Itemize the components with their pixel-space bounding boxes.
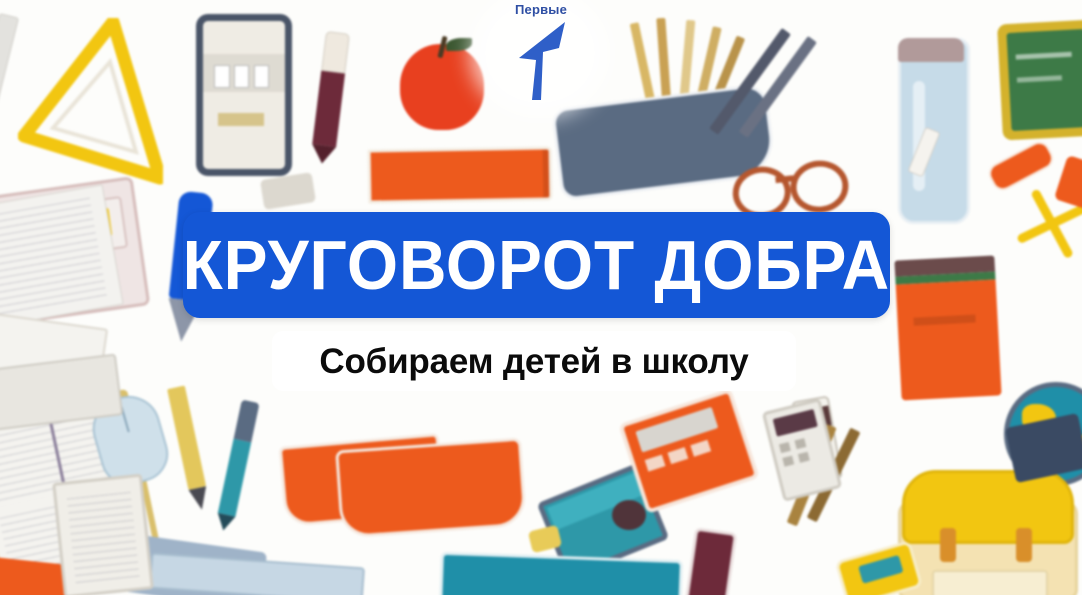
pervye-logo: Первые bbox=[495, 0, 587, 108]
ruler-strip-icon bbox=[0, 13, 19, 109]
marker-set-icon bbox=[260, 172, 316, 210]
orange-pencil-case-large-icon bbox=[335, 438, 527, 539]
eyeglasses-icon bbox=[730, 152, 845, 215]
page-title: КРУГОВОРОТ ДОБРА bbox=[183, 230, 890, 300]
orange-eraser-icon bbox=[985, 138, 1056, 194]
smartphone-icon bbox=[196, 14, 292, 176]
yellow-pencil-icon bbox=[167, 386, 211, 513]
clipboard-icon bbox=[52, 474, 154, 595]
sharpener-icon bbox=[835, 540, 923, 595]
poster-canvas: Первые КРУГОВОРОТ ДОБРА Собираем детей в… bbox=[0, 0, 1082, 595]
blue-arrow-flag-icon bbox=[509, 18, 573, 102]
yellow-backpack-icon bbox=[898, 470, 1078, 595]
orange-textbook-icon bbox=[894, 255, 1001, 400]
marker-pen-icon bbox=[310, 31, 350, 165]
subtitle-plate: Собираем детей в школу bbox=[272, 331, 796, 391]
subtitle-text: Собираем детей в школу bbox=[319, 344, 748, 379]
orange-book-icon bbox=[368, 146, 553, 203]
ink-blob-icon bbox=[612, 500, 646, 530]
teal-pen-icon bbox=[214, 400, 259, 533]
chalkboard-icon bbox=[997, 20, 1082, 141]
graphite-pencils-icon bbox=[770, 22, 900, 152]
paint-tube-icon bbox=[685, 527, 737, 595]
open-notebook-icon bbox=[0, 185, 121, 328]
teal-book-icon bbox=[439, 552, 683, 595]
main-title-banner: КРУГОВОРОТ ДОБРА bbox=[183, 212, 890, 318]
logo-wordmark: Первые bbox=[495, 0, 587, 20]
triangle-ruler-icon bbox=[18, 18, 163, 193]
